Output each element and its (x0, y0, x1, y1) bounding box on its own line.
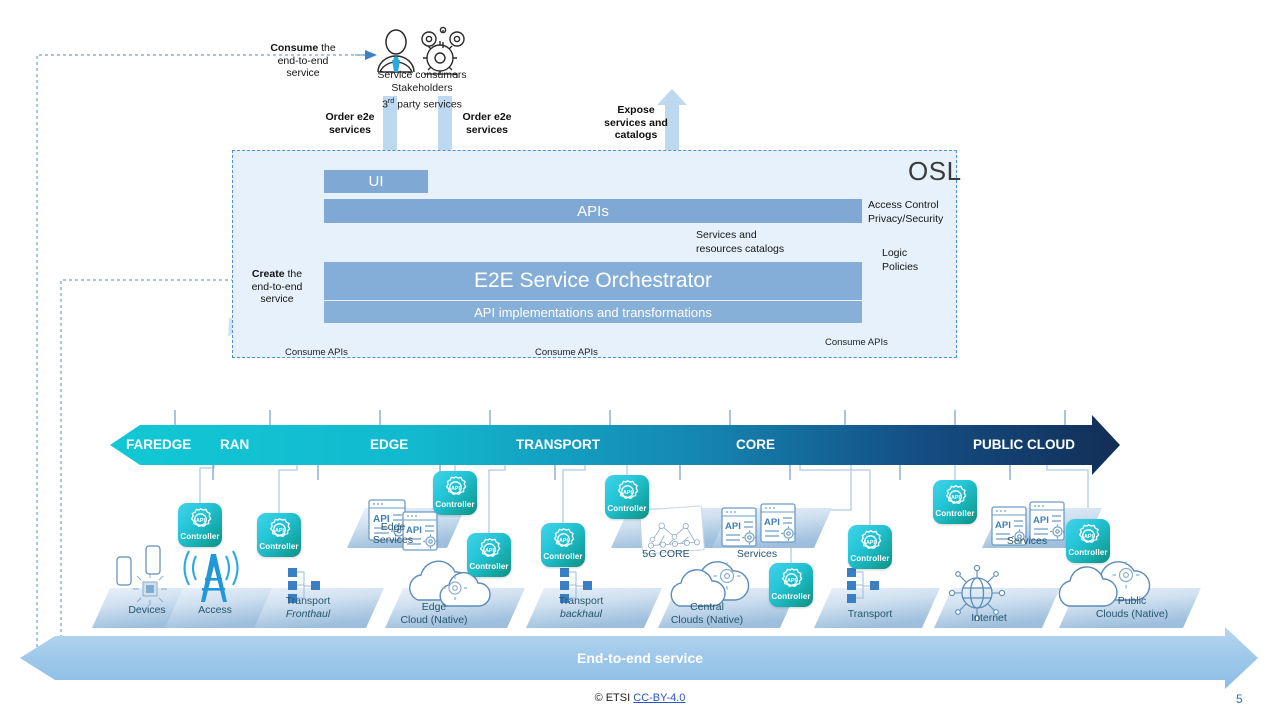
svg-text:API: API (623, 490, 632, 496)
band-segment-ran[interactable]: RAN (220, 437, 249, 452)
controller-tile-backhaul[interactable]: API Controller (541, 523, 585, 567)
controller-label: Controller (469, 562, 508, 571)
order-e2e-right-label: Order e2e services (455, 111, 519, 136)
controller-label: Controller (543, 552, 582, 561)
controller-label: Controller (607, 504, 646, 513)
create-e2e-bold: Create (252, 268, 285, 280)
consume-e2e-rest: the (318, 42, 336, 54)
consume-e2e-label: Consume the end-to-end service (240, 42, 366, 80)
create-e2e-line3: service (234, 293, 320, 306)
controller-tile-public-clouds[interactable]: API Controller (1066, 519, 1110, 563)
controller-label: Controller (771, 592, 810, 601)
controller-label: Controller (435, 500, 474, 509)
svg-text:API: API (1033, 515, 1049, 526)
platform-transport-core-line1: Transport (833, 608, 907, 621)
consume-apis-label-3: Consume APIs (825, 337, 888, 348)
controller-tile-public-services[interactable]: API Controller (933, 480, 977, 524)
platform-label-edge-services: Edge Services (358, 521, 428, 546)
platform-5gcore-line1: 5G CORE (626, 548, 706, 561)
controller-tile-central-clouds[interactable]: API Controller (769, 563, 813, 607)
platform-label-devices: Devices (112, 604, 182, 617)
consume-e2e-line2: end-to-end (240, 55, 366, 68)
platform-label-public-services: Services (992, 535, 1062, 548)
expose-line1: Expose (588, 104, 684, 117)
platform-central-clouds-line2: Clouds (Native) (655, 614, 759, 627)
api-gear-icon: API (1075, 522, 1102, 549)
controller-tile-fronthaul[interactable]: API Controller (257, 513, 301, 557)
platform-edge-cloud-line2: Cloud (Native) (382, 614, 486, 627)
controller-label: Controller (180, 532, 219, 541)
create-e2e-line2: end-to-end (234, 281, 320, 294)
band-segment-public-cloud[interactable]: PUBLIC CLOUD (973, 437, 1075, 452)
controller-label: Controller (1068, 548, 1107, 557)
platform-label-access: Access (180, 604, 250, 617)
apis-bar[interactable]: APIs (324, 199, 862, 223)
svg-text:API: API (451, 486, 460, 492)
svg-text:API: API (196, 518, 205, 524)
order-e2e-right-line1: Order e2e (455, 111, 519, 124)
consumers-party-services: party services (394, 99, 462, 111)
platform-label-fronthaul: Transport Fronthaul (266, 595, 350, 620)
svg-text:API: API (725, 521, 741, 532)
access-control-line2: Privacy/Security (868, 213, 968, 227)
platform-internet-line1: Internet (952, 612, 1026, 625)
footer: © ETSI CC-BY-4.0 (0, 692, 1280, 704)
consumers-line1: Service consumers (358, 69, 486, 82)
central-cloud-icon (671, 562, 748, 606)
catalogs-line1: Services and (696, 229, 806, 243)
consume-apis-label-2: Consume APIs (535, 347, 598, 358)
platform-access-line1: Access (180, 604, 250, 617)
page-number: 5 (1236, 692, 1243, 706)
consume-apis-label-1: Consume APIs (285, 347, 348, 358)
api-gear-icon: API (778, 566, 805, 593)
chip-icon (133, 573, 167, 605)
controller-tile-ran[interactable]: API Controller (178, 503, 222, 547)
platform-public-clouds-line2: Clouds (Native) (1082, 608, 1182, 621)
catalogs-line2: resources catalogs (696, 243, 806, 257)
expose-label: Expose services and catalogs (588, 104, 684, 142)
end-to-end-service-label: End-to-end service (0, 650, 1280, 666)
platform-backhaul-line1: Transport (539, 595, 623, 608)
platform-edge-cloud-line1: Edge (382, 601, 486, 614)
controller-label: Controller (850, 554, 889, 563)
api-gear-icon: API (550, 526, 577, 553)
platform-public-services-line1: Services (992, 535, 1062, 548)
controller-label: Controller (935, 509, 974, 518)
devices-icon (117, 546, 160, 585)
api-gear-icon: API (857, 528, 884, 555)
access-control-line1: Access Control (868, 199, 968, 213)
platform-label-public-clouds: Public Clouds (Native) (1082, 595, 1182, 620)
controller-tile-transport-core[interactable]: API Controller (848, 525, 892, 569)
platform-edge-services-line2: Services (358, 534, 428, 547)
platform-fronthaul-line1: Transport (266, 595, 350, 608)
platform-label-backhaul: Transport backhaul (539, 595, 623, 620)
ui-bar[interactable]: UI (324, 170, 428, 193)
create-e2e-rest: the (285, 268, 303, 280)
platform-backhaul-line2: backhaul (560, 608, 602, 620)
order-e2e-right-line2: services (455, 124, 519, 137)
logic-policies-line1: Logic (882, 247, 952, 261)
platform-public-clouds-line1: Public (1082, 595, 1182, 608)
api-gear-icon: API (476, 536, 503, 563)
api-gear-icon: API (266, 516, 293, 543)
svg-text:API: API (995, 520, 1011, 531)
platform-label-edge-cloud: Edge Cloud (Native) (382, 601, 486, 626)
platform-fronthaul-line2: Fronthaul (286, 608, 330, 620)
api-implementations-bar[interactable]: API implementations and transformations (324, 301, 862, 323)
platform-central-clouds-line1: Central (655, 601, 759, 614)
band-segment-faredge[interactable]: FAREDGE (126, 437, 191, 452)
expose-line2: services and (588, 117, 684, 130)
platform-core-services-line1: Services (722, 548, 792, 561)
order-e2e-left-line1: Order e2e (318, 111, 382, 124)
band-segment-core[interactable]: CORE (736, 437, 775, 452)
api-gear-icon: API (614, 478, 641, 505)
svg-text:API: API (951, 495, 960, 501)
footer-license-link[interactable]: CC-BY-4.0 (633, 692, 685, 704)
e2e-service-orchestrator-bar[interactable]: E2E Service Orchestrator (324, 262, 862, 300)
expose-line3: catalogs (588, 129, 684, 142)
api-gear-icon: API (442, 474, 469, 501)
logic-policies-line2: Policies (882, 261, 952, 275)
controller-tile-edge-services[interactable]: API Controller (433, 471, 477, 515)
platform-label-transport-core: Transport (833, 608, 907, 621)
footer-copyright: © ETSI (595, 692, 631, 704)
svg-text:API: API (764, 517, 780, 528)
svg-text:API: API (485, 548, 494, 554)
domain-band (110, 415, 1120, 475)
platform-label-central-clouds: Central Clouds (Native) (655, 601, 759, 626)
svg-text:API: API (1084, 534, 1093, 540)
svg-text:API: API (866, 540, 875, 546)
svg-text:API: API (275, 528, 284, 534)
access-control-note: Access Control Privacy/Security (868, 199, 968, 226)
platform-label-internet: Internet (952, 612, 1026, 625)
create-e2e-label: Create the end-to-end service (234, 268, 320, 306)
consumers-line3: 3rd party services (358, 95, 486, 112)
service-consumers-caption: Service consumers Stakeholders 3rd party… (358, 69, 486, 112)
order-e2e-left-line2: services (318, 124, 382, 137)
band-segment-edge[interactable]: EDGE (370, 437, 408, 452)
controller-label: Controller (259, 542, 298, 551)
controller-tile-5gcore[interactable]: API Controller (605, 475, 649, 519)
catalogs-note: Services and resources catalogs (696, 229, 806, 256)
consumers-line2: Stakeholders (358, 82, 486, 95)
api-gear-icon: API (187, 506, 214, 533)
logic-policies-note: Logic Policies (882, 247, 952, 274)
platform-edge-services-line1: Edge (358, 521, 428, 534)
controller-tile-edge-cloud[interactable]: API Controller (467, 533, 511, 577)
band-segment-transport[interactable]: TRANSPORT (516, 437, 600, 452)
platform-devices-line1: Devices (112, 604, 182, 617)
api-gear-icon: API (942, 483, 969, 510)
consume-e2e-bold: Consume (270, 42, 318, 54)
5g-core-topology-icon (640, 506, 705, 554)
order-e2e-left-label: Order e2e services (318, 111, 382, 136)
consume-e2e-line3: service (240, 67, 366, 80)
svg-text:API: API (787, 578, 796, 584)
platform-label-5gcore: 5G CORE (626, 548, 706, 561)
svg-text:API: API (559, 538, 568, 544)
osl-title: OSL (908, 156, 962, 187)
platform-label-core-services: Services (722, 548, 792, 561)
